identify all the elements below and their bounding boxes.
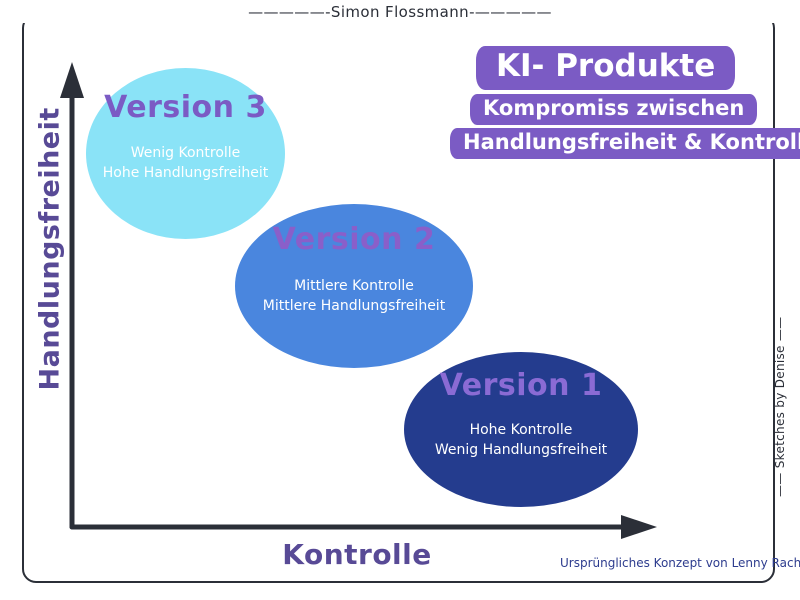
credit-original-concept: Ursprüngliches Konzept von Lenny Rachits… [560,556,800,570]
bubble-version-1-line-1: Hohe Kontrolle [404,420,638,440]
bubble-version-3[interactable]: Version 3 Wenig Kontrolle Hohe Handlungs… [86,68,285,239]
bubble-version-3-details: Wenig Kontrolle Hohe Handlungsfreiheit [86,143,285,184]
title-subtitle-line-2: Handlungsfreiheit & Kontrolle [450,128,800,159]
x-axis-label: Kontrolle [232,538,482,571]
credit-sketch-author: —— Sketches by Denise —— [773,337,787,497]
sketch-canvas: —————-Simon Flossmann-————— Handlungsfre… [0,0,800,600]
title-subtitle-line-1: Kompromiss zwischen [470,94,757,125]
title-block: KI- Produkte Kompromiss zwischen Handlun… [458,46,768,159]
bubble-version-3-line-1: Wenig Kontrolle [86,143,285,163]
bubble-version-1-line-2: Wenig Handlungsfreiheit [404,440,638,460]
bubble-version-1[interactable]: Version 1 Hohe Kontrolle Wenig Handlungs… [404,352,638,507]
bubble-version-3-title: Version 3 [86,90,285,125]
y-axis-label: Handlungsfreiheit [35,171,66,391]
bubble-version-2-line-2: Mittlere Handlungsfreiheit [235,296,473,316]
title-main: KI- Produkte [476,46,735,90]
bubble-version-2[interactable]: Version 2 Mittlere Kontrolle Mittlere Ha… [235,204,473,368]
bubble-version-2-title: Version 2 [235,222,473,257]
bubble-version-3-line-2: Hohe Handlungsfreiheit [86,163,285,183]
bubble-version-1-details: Hohe Kontrolle Wenig Handlungsfreiheit [404,420,638,461]
author-signature-header: —————-Simon Flossmann-————— [0,2,800,23]
bubble-version-2-details: Mittlere Kontrolle Mittlere Handlungsfre… [235,276,473,317]
bubble-version-2-line-1: Mittlere Kontrolle [235,276,473,296]
bubble-version-1-title: Version 1 [404,368,638,403]
